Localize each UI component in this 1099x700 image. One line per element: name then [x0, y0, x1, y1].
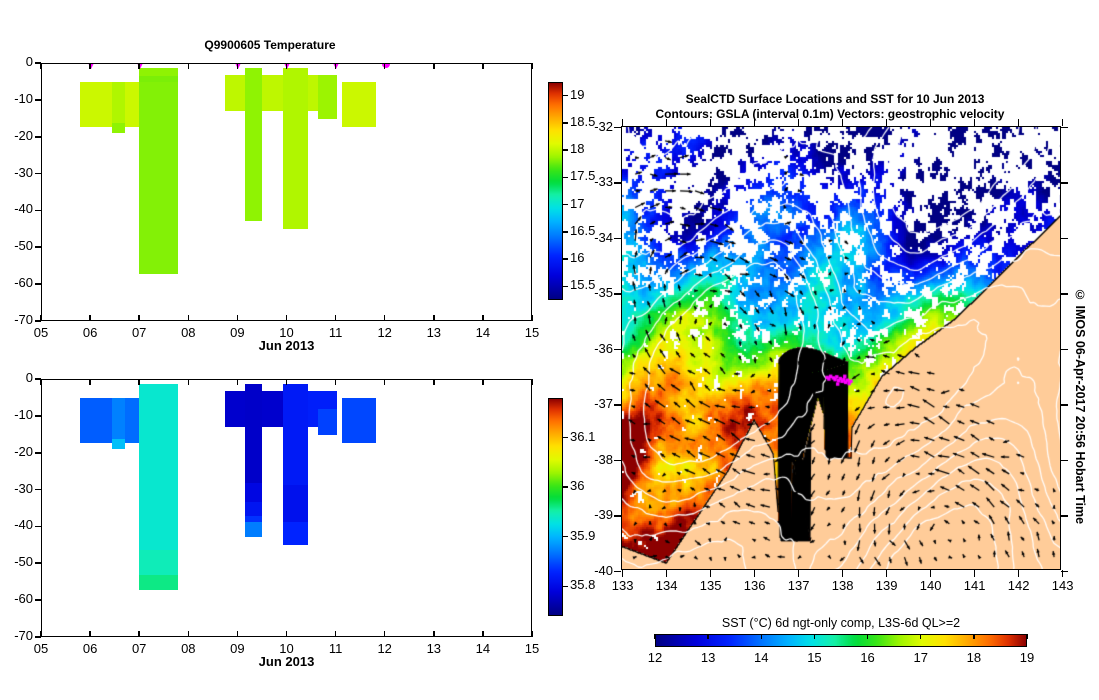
y-tick [35, 415, 41, 417]
profile-cell [245, 384, 262, 484]
sst-colorbar-tick-label: 13 [691, 650, 725, 665]
map-lat-label: -39 [575, 507, 613, 522]
map-lon-tick [1062, 570, 1064, 577]
profile-cell [283, 485, 309, 522]
x-tick-top [384, 63, 386, 69]
y-tick [35, 173, 41, 175]
current-profile-marker [382, 63, 390, 68]
y-tick-label: -20 [0, 444, 33, 459]
profile-cell [318, 391, 337, 409]
x-tick-top [89, 379, 91, 385]
sst-colorbar-label: SST (°C) 6d ngt-only comp, L3S-6d QL>=2 [620, 616, 1062, 630]
sst-colorbar-tick-label: 18 [957, 650, 991, 665]
profile-cell [112, 439, 126, 449]
sst-colorbar-tick-label: 15 [797, 650, 831, 665]
x-tick-top [138, 379, 140, 385]
profile-cell [225, 75, 246, 111]
map-lat-tick-right [1061, 460, 1068, 462]
map-lat-tick-right [1061, 182, 1068, 184]
profile-cell [262, 75, 283, 111]
y-tick-label: -20 [0, 128, 33, 143]
map-lon-tick [710, 570, 712, 577]
map-lat-tick [614, 182, 621, 184]
map-lon-tick-top [754, 119, 756, 126]
profile-cell [262, 391, 283, 427]
x-tick-top [482, 379, 484, 385]
map-lon-tick [622, 570, 624, 577]
temperature-plot-area [41, 63, 532, 321]
y-tick [35, 452, 41, 454]
map-lat-tick [614, 571, 621, 573]
sst-colorbar-tick [920, 634, 921, 639]
map-lon-tick-top [1018, 119, 1020, 126]
y-tick [35, 246, 41, 248]
y-tick-label: -50 [0, 238, 33, 253]
x-tick [433, 631, 435, 637]
y-tick-label: -40 [0, 201, 33, 216]
map-lat-label: -36 [575, 341, 613, 356]
map-lon-label: 143 [1044, 578, 1082, 593]
sst-colorbar-tick [707, 634, 708, 639]
map-lon-tick [930, 570, 932, 577]
y-tick [35, 283, 41, 285]
profile-cell [112, 82, 126, 123]
x-tick-top [89, 63, 91, 69]
map-lat-tick [614, 460, 621, 462]
map-lon-tick [798, 570, 800, 577]
map-lat-tick-right [1061, 127, 1068, 129]
y-tick-label: -50 [0, 554, 33, 569]
x-tick [89, 631, 91, 637]
map-lat-label: -35 [575, 285, 613, 300]
y-tick [35, 99, 41, 101]
map-lon-tick-top [710, 119, 712, 126]
y-tick-label: -60 [0, 591, 33, 606]
y-tick-label: -10 [0, 91, 33, 106]
temperature-panel: Q9900605 Temperature 0-10-20-30-40-50-60… [0, 0, 560, 360]
map-lon-tick [754, 570, 756, 577]
x-tick-top [433, 63, 435, 69]
map-title-line2: Contours: GSLA (interval 0.1m) Vectors: … [580, 107, 1080, 121]
sst-colorbar-tick [867, 634, 868, 639]
profile-cell [245, 502, 262, 516]
map-lon-tick-top [1062, 119, 1064, 126]
sst-colorbar-tick-label: 14 [744, 650, 778, 665]
map-lat-label: -32 [575, 119, 613, 134]
profile-cell [245, 68, 262, 221]
y-tick [35, 136, 41, 138]
sst-colorbar-tick-label: 17 [904, 650, 938, 665]
profile-cell [318, 409, 337, 435]
map-lat-tick [614, 349, 621, 351]
x-tick-top [335, 63, 337, 69]
x-tick-top [40, 63, 42, 69]
x-tick-top [188, 63, 190, 69]
map-lon-label: 135 [692, 578, 730, 593]
map-lat-label: -33 [575, 174, 613, 189]
map-lat-label: -34 [575, 230, 613, 245]
imos-credit: © IMOS 06-Apr-2017 20:56 Hobart Time [1073, 288, 1087, 524]
map-lon-label: 134 [648, 578, 686, 593]
profile-cell [283, 522, 309, 545]
x-tick [286, 631, 288, 637]
map-lon-label: 141 [956, 578, 994, 593]
y-tick [35, 210, 41, 212]
y-tick-label: -30 [0, 165, 33, 180]
map-lon-tick [842, 570, 844, 577]
figure-root: Q9900605 Temperature 0-10-20-30-40-50-60… [0, 0, 1099, 700]
map-lon-tick-top [622, 119, 624, 126]
x-tick-top [188, 379, 190, 385]
y-tick-label: -10 [0, 407, 33, 422]
x-tick [531, 631, 533, 637]
sst-colorbar-tick [814, 634, 815, 639]
x-tick [335, 631, 337, 637]
map-lat-label: -37 [575, 396, 613, 411]
x-tick-top [286, 379, 288, 385]
map-plot-area [621, 126, 1061, 570]
profile-cell [342, 398, 376, 442]
x-tick-top [384, 379, 386, 385]
salinity-xlabel: Jun 2013 [41, 654, 532, 669]
map-panel: SealCTD Surface Locations and SST for 10… [560, 0, 1099, 700]
profile-cell [125, 82, 139, 126]
salinity-plot-area [41, 379, 532, 637]
map-lon-tick [974, 570, 976, 577]
sst-colorbar-tick [1026, 634, 1027, 639]
map-lon-tick-top [842, 119, 844, 126]
y-tick [35, 526, 41, 528]
profile-cell [318, 75, 337, 119]
x-tick [384, 631, 386, 637]
map-lat-tick [614, 238, 621, 240]
profile-cell [139, 68, 178, 76]
sst-colorbar-tick [973, 634, 974, 639]
x-tick-top [335, 379, 337, 385]
y-tick [35, 562, 41, 564]
map-lon-tick-top [798, 119, 800, 126]
profile-cell [139, 384, 178, 550]
y-tick-label: 0 [0, 370, 33, 385]
profile-cell [112, 123, 126, 133]
sst-colorbar-tick [761, 634, 762, 639]
map-lat-tick [614, 515, 621, 517]
profile-cell [80, 82, 111, 126]
map-lon-label: 142 [1000, 578, 1038, 593]
profile-cell [80, 398, 111, 442]
y-tick-label: 0 [0, 54, 33, 69]
profile-cell [283, 384, 309, 485]
map-lon-label: 137 [780, 578, 818, 593]
map-lat-tick-right [1061, 238, 1068, 240]
x-tick-top [531, 63, 533, 69]
map-lon-tick-top [930, 119, 932, 126]
sst-colorbar-tick [654, 634, 655, 639]
profile-cell [342, 82, 376, 126]
x-tick [138, 631, 140, 637]
map-lon-label: 136 [736, 578, 774, 593]
map-lat-tick [614, 127, 621, 129]
profile-cell [139, 575, 178, 590]
x-tick [482, 631, 484, 637]
map-lon-tick [886, 570, 888, 577]
x-tick-top [237, 63, 239, 69]
x-tick-top [40, 379, 42, 385]
y-tick-label: -60 [0, 275, 33, 290]
profile-cell [245, 522, 262, 537]
map-lat-label: -38 [575, 452, 613, 467]
x-tick-top [237, 379, 239, 385]
map-lat-tick-right [1061, 293, 1068, 295]
x-tick [188, 631, 190, 637]
map-lon-label: 140 [912, 578, 950, 593]
map-lon-label: 138 [824, 578, 862, 593]
profile-cell [139, 76, 178, 83]
sst-colorbar [655, 634, 1027, 647]
profile-cell [139, 550, 178, 576]
sst-colorbar-tick-label: 19 [1010, 650, 1044, 665]
map-lat-tick-right [1061, 515, 1068, 517]
x-tick [237, 631, 239, 637]
x-tick-top [138, 63, 140, 69]
profile-cell [112, 398, 126, 439]
y-tick [35, 489, 41, 491]
map-lat-tick-right [1061, 349, 1068, 351]
profile-cell [245, 483, 262, 501]
y-tick-label: -40 [0, 517, 33, 532]
profile-cell [308, 391, 318, 427]
map-lat-tick [614, 293, 621, 295]
sst-colorbar-tick-label: 12 [638, 650, 672, 665]
temperature-title: Q9900605 Temperature [40, 38, 500, 52]
map-lon-tick [666, 570, 668, 577]
sst-colorbar-tick-label: 16 [851, 650, 885, 665]
x-tick-top [482, 63, 484, 69]
map-lat-tick [614, 404, 621, 406]
map-lon-tick-top [974, 119, 976, 126]
map-lat-label: -40 [575, 563, 613, 578]
salinity-panel: 0-10-20-30-40-50-60-70 05060708091011121… [0, 316, 560, 700]
map-lon-tick-top [666, 119, 668, 126]
x-tick-top [531, 379, 533, 385]
map-lon-tick [1018, 570, 1020, 577]
x-tick [40, 631, 42, 637]
y-tick-label: -30 [0, 481, 33, 496]
profile-cell [139, 82, 178, 274]
profile-cell [225, 391, 246, 427]
map-lat-tick-right [1061, 404, 1068, 406]
map-lon-tick-top [886, 119, 888, 126]
profile-cell [283, 68, 309, 229]
map-title-line1: SealCTD Surface Locations and SST for 10… [605, 92, 1065, 106]
map-lon-label: 139 [868, 578, 906, 593]
x-tick-top [286, 63, 288, 69]
y-tick [35, 599, 41, 601]
x-tick-top [433, 379, 435, 385]
profile-cell [125, 398, 139, 442]
profile-cell [308, 75, 318, 111]
map-lon-label: 133 [604, 578, 642, 593]
